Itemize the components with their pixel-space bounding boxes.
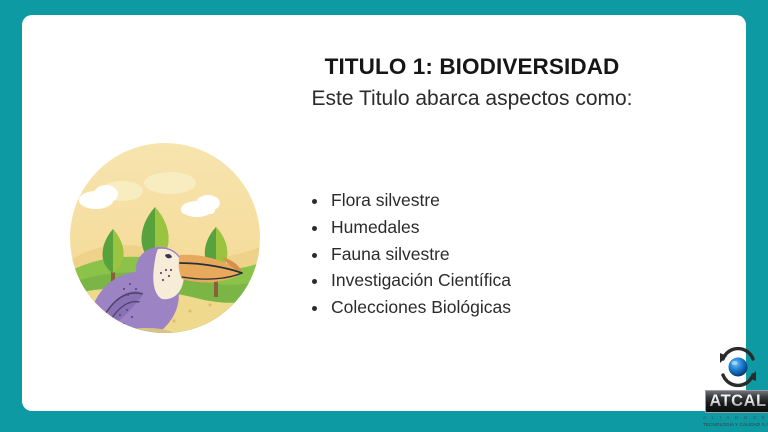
cycle-sphere-icon: [703, 345, 768, 389]
aspects-list: Flora silvestre Humedales Fauna silvestr…: [310, 187, 511, 321]
list-item: Investigación Científica: [310, 267, 511, 294]
logo-wordmark-text: ATCAL: [709, 392, 766, 411]
slide-content-card: TITULO 1: BIODIVERSIDAD Este Titulo abar…: [22, 15, 746, 411]
logo-tagline-secondary: TECNOLOGIA Y CALIDAD S.A.S.: [703, 422, 768, 427]
list-item: Humedales: [310, 214, 511, 241]
list-item: Fauna silvestre: [310, 241, 511, 268]
logo-tagline-primary: A L I A D O S E N: [703, 415, 768, 420]
logo-wordmark: ATCAL: [705, 390, 768, 413]
page-title: TITULO 1: BIODIVERSIDAD: [272, 53, 672, 80]
heading-block: TITULO 1: BIODIVERSIDAD Este Titulo abar…: [272, 53, 672, 113]
slide: TITULO 1: BIODIVERSIDAD Este Titulo abar…: [0, 0, 768, 432]
page-subtitle: Este Titulo abarca aspectos como:: [272, 86, 672, 112]
list-item: Flora silvestre: [310, 187, 511, 214]
toucan-nature-illustration: [70, 143, 260, 333]
atcal-logo: ATCAL A L I A D O S E N TECNOLOGIA Y CAL…: [703, 345, 768, 431]
list-item: Colecciones Biológicas: [310, 294, 511, 321]
